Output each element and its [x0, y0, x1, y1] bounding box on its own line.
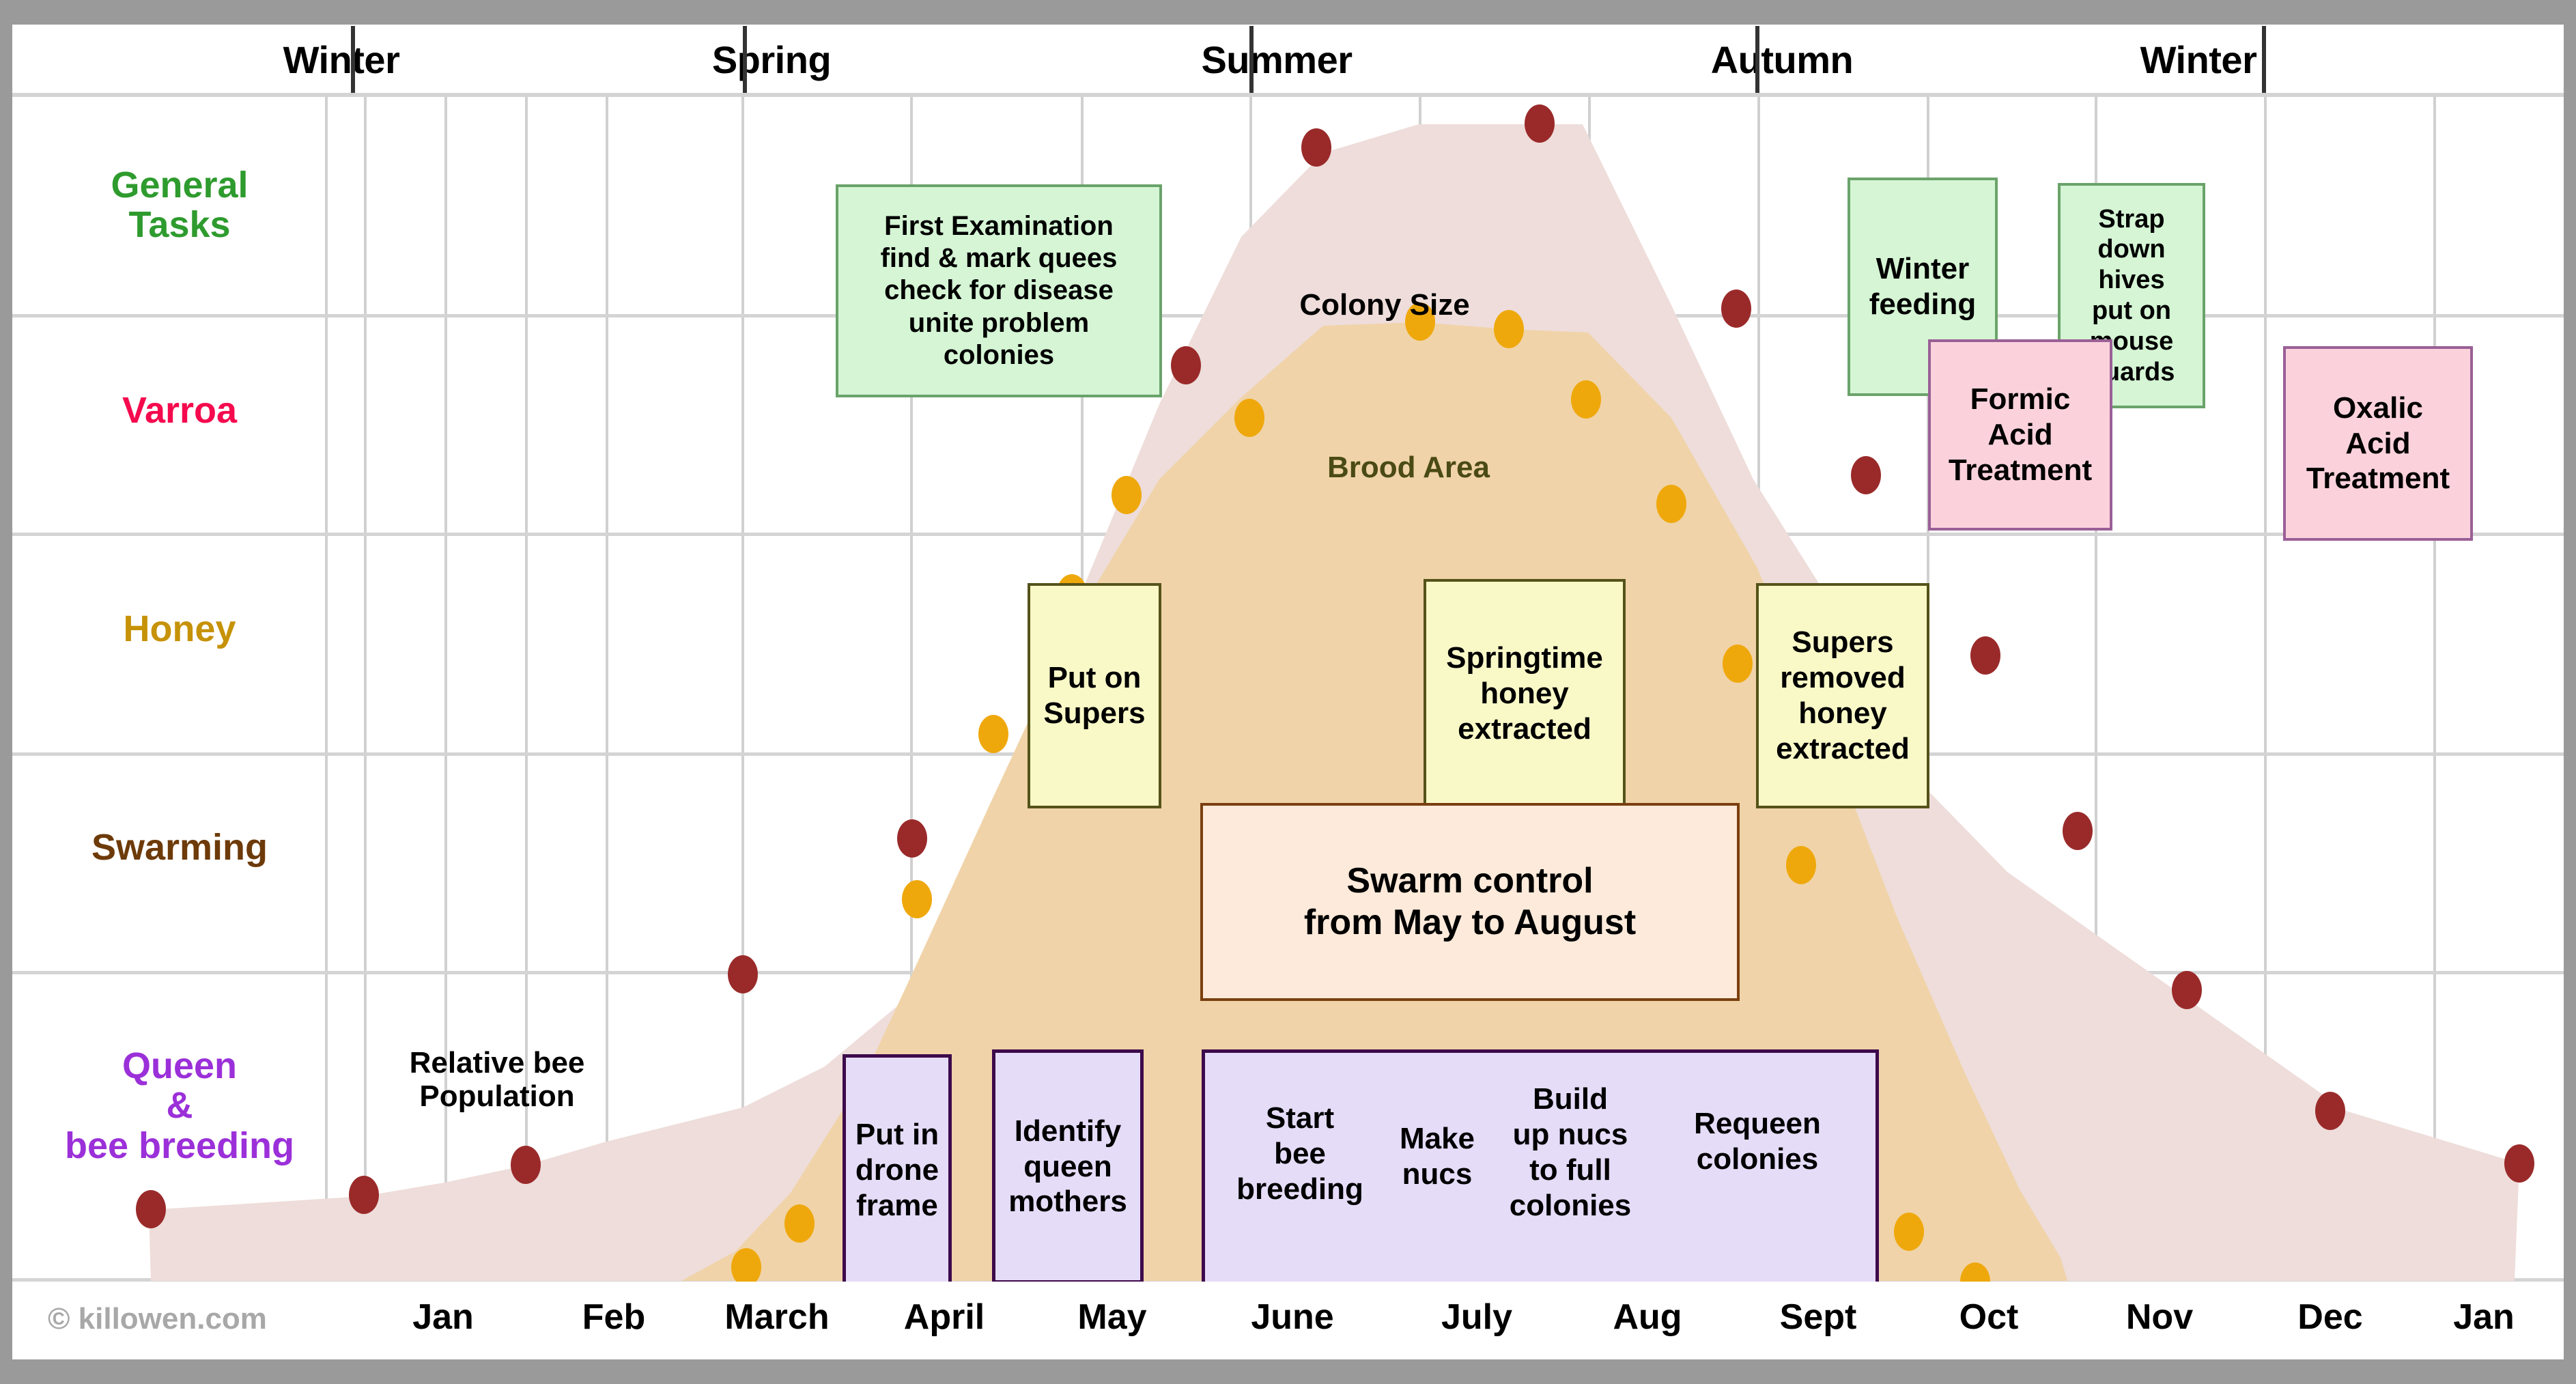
point-colony-dec2: [2315, 1092, 2345, 1130]
point-brood-april2: [784, 1204, 815, 1243]
season-divider-4: [1755, 26, 1759, 94]
season-divider-5: [2262, 26, 2266, 94]
task-label-requeen-colonies: Requeen colonies: [1649, 1106, 1866, 1177]
point-brood-may3: [978, 715, 1008, 753]
task-label-start-bee-breeding: Start bee breeding: [1226, 1101, 1374, 1207]
season-divider-1: [351, 26, 355, 94]
season-header-band: Winter Spring Summer Autumn Winter: [12, 25, 2564, 95]
point-colony-march: [511, 1146, 541, 1184]
month-label-sept: Sept: [1740, 1297, 1897, 1338]
month-label-july: July: [1398, 1297, 1555, 1338]
point-colony-jan: [136, 1190, 166, 1228]
point-brood-june3: [1234, 399, 1264, 437]
point-colony-sept2: [1851, 456, 1881, 494]
point-brood-oct: [1894, 1213, 1924, 1251]
point-brood-april: [731, 1248, 761, 1282]
relative-bee-population-label: Relative bee Population: [354, 1046, 640, 1114]
point-colony-jan-next: [2504, 1144, 2534, 1183]
month-label-jan-1: Jan: [365, 1297, 522, 1338]
task-box-breeding-block[interactable]: Start bee breeding Make nucs Build up nu…: [1202, 1049, 1879, 1287]
point-brood-sept2: [1786, 846, 1816, 884]
season-header-winter-1: Winter: [164, 25, 519, 95]
point-colony-april: [728, 955, 758, 993]
chart-card: Winter Spring Summer Autumn Winter: [12, 25, 2564, 1359]
season-divider-3: [1249, 26, 1254, 94]
point-colony-feb: [349, 1176, 379, 1214]
point-colony-oct: [1970, 636, 2000, 675]
task-box-springtime-honey-extracted[interactable]: Springtime honey extracted: [1424, 579, 1626, 808]
row-label-queen-bee-breeding: Queen & bee breeding: [26, 1046, 333, 1166]
task-label-build-up-nucs: Build up nucs to full colonies: [1499, 1082, 1642, 1224]
point-colony-aug: [1525, 104, 1555, 143]
season-divider-2: [743, 26, 747, 94]
season-header-summer: Summer: [1024, 25, 1529, 95]
point-colony-jun2: [1171, 346, 1201, 384]
point-brood-june2: [1112, 476, 1142, 514]
task-box-swarm-control[interactable]: Swarm control from May to August: [1200, 803, 1740, 1001]
task-box-identify-queen-mothers[interactable]: Identify queen mothers: [992, 1049, 1144, 1284]
month-label-march: March: [695, 1297, 859, 1338]
brood-area-label: Brood Area: [1272, 451, 1545, 484]
month-label-may: May: [1034, 1297, 1191, 1338]
month-label-dec: Dec: [2252, 1297, 2409, 1338]
point-colony-july: [1301, 128, 1331, 167]
month-label-feb: Feb: [535, 1297, 692, 1338]
row-label-varroa: Varroa: [26, 391, 333, 430]
point-brood-aug: [1571, 380, 1601, 419]
point-brood-sept: [1723, 645, 1753, 683]
month-label-june: June: [1214, 1297, 1371, 1338]
month-label-aug: Aug: [1569, 1297, 1726, 1338]
task-box-put-in-drone-frame[interactable]: Put in drone frame: [843, 1054, 952, 1286]
point-colony-may: [897, 819, 927, 858]
point-brood-aug2: [1656, 485, 1686, 523]
month-axis: © killowen.com Jan Feb March April May J…: [12, 1282, 2564, 1359]
season-header-autumn: Autumn: [1529, 25, 2035, 95]
month-label-april: April: [866, 1297, 1023, 1338]
point-colony-nov: [2063, 812, 2093, 850]
month-label-nov: Nov: [2081, 1297, 2238, 1338]
row-label-honey: Honey: [26, 609, 333, 649]
task-box-oxalic-acid-treatment[interactable]: Oxalic Acid Treatment: [2283, 346, 2473, 541]
plot-area: Colony Size Brood Area Relative bee Popu…: [12, 97, 2564, 1282]
beekeeping-calendar-chart: Winter Spring Summer Autumn Winter: [0, 0, 2576, 1384]
row-label-general-tasks: General Tasks: [26, 165, 333, 245]
row-label-swarming: Swarming: [26, 828, 333, 867]
colony-size-label: Colony Size: [1248, 288, 1521, 322]
month-label-oct: Oct: [1910, 1297, 2067, 1338]
copyright-label: © killowen.com: [48, 1302, 267, 1336]
point-brood-oct2: [1960, 1262, 1990, 1282]
task-box-supers-removed-honey-extracted[interactable]: Supers removed honey extracted: [1756, 583, 1929, 808]
task-box-put-on-supers[interactable]: Put on Supers: [1028, 583, 1161, 808]
point-colony-sept: [1721, 289, 1751, 328]
season-header-winter-2: Winter: [2035, 25, 2362, 95]
point-colony-dec: [2172, 971, 2202, 1009]
point-brood-may2: [902, 880, 932, 918]
task-label-make-nucs: Make nucs: [1377, 1121, 1497, 1192]
month-label-jan-2: Jan: [2416, 1297, 2552, 1338]
task-box-formic-acid-treatment[interactable]: Formic Acid Treatment: [1928, 339, 2112, 531]
task-box-first-examination[interactable]: First Examination find & mark quees chec…: [836, 184, 1162, 397]
season-header-spring: Spring: [519, 25, 1024, 95]
